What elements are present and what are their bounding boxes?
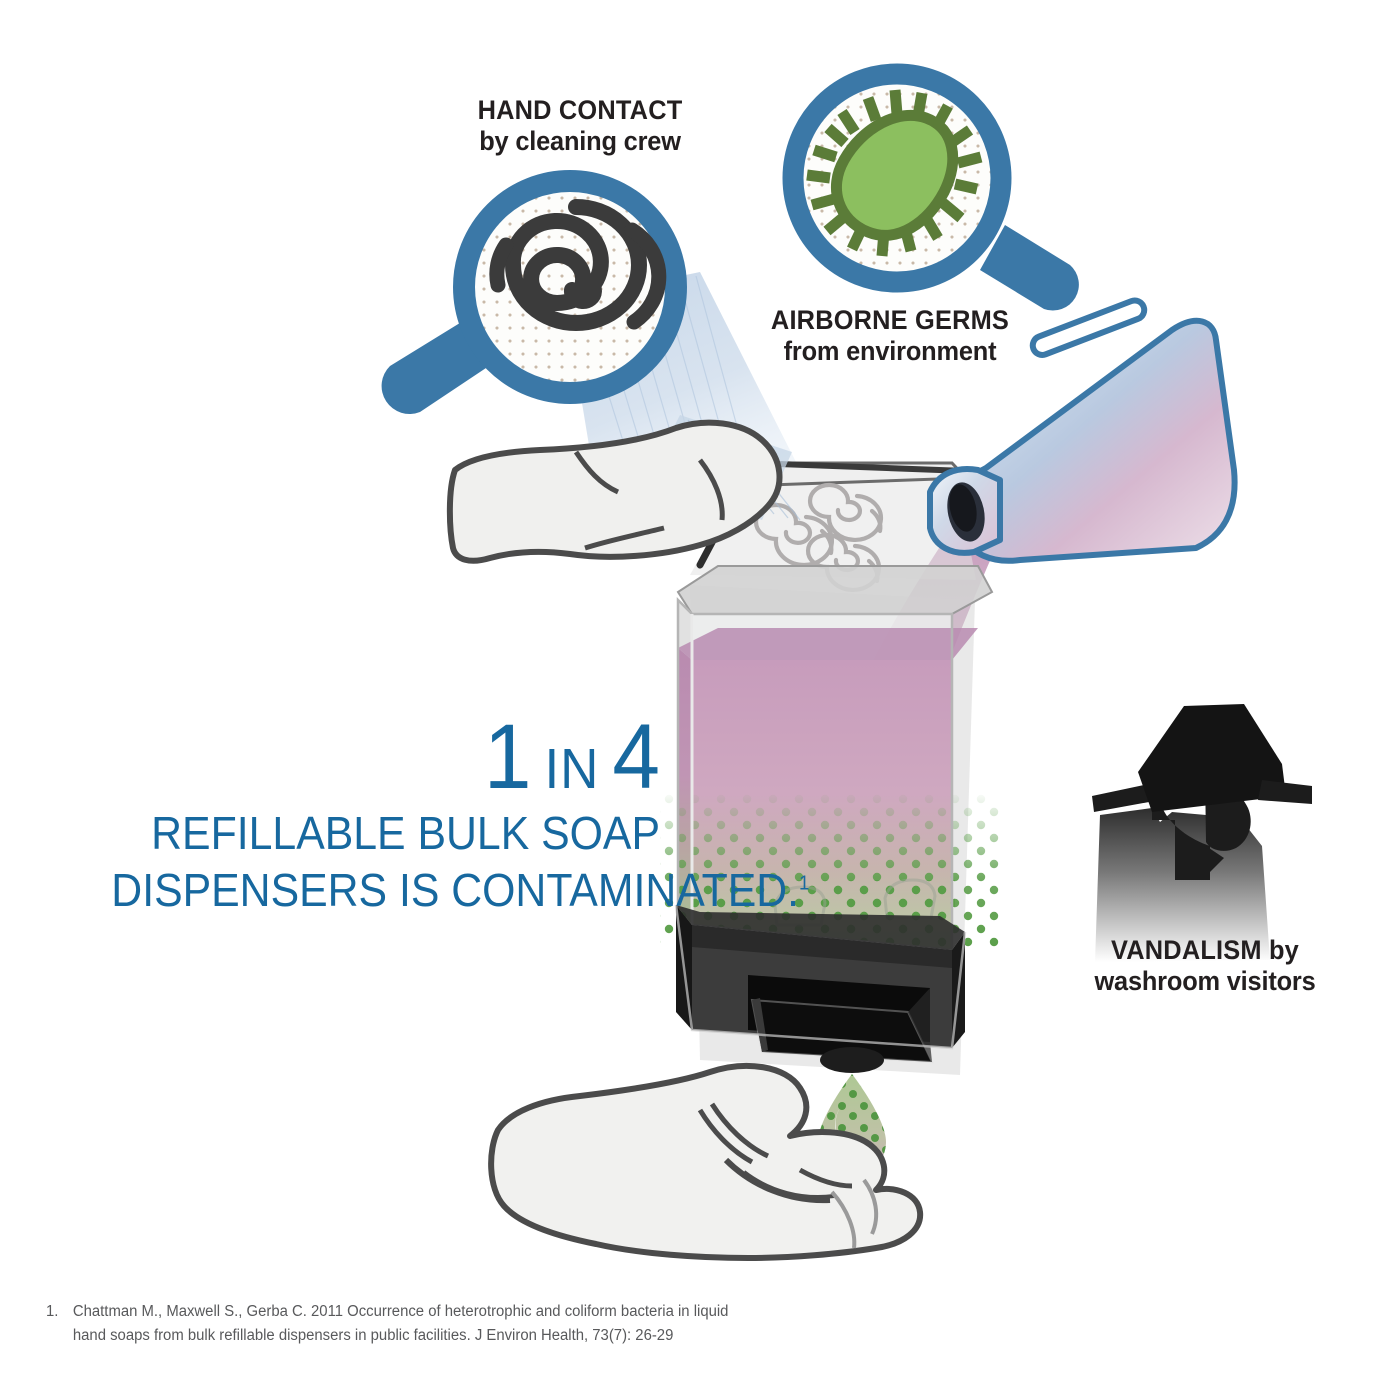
headline-number-one: 1 [484, 706, 532, 808]
bulk-soap-dispenser [660, 463, 1000, 1075]
headline-superscript: 1 [799, 872, 809, 894]
headline-line-b-wrap: DISPENSERS IS CONTAMINATED.1 [111, 866, 660, 915]
callout-label-vandalism: VANDALISM by washroom visitors [1069, 935, 1342, 998]
callout-line1: VANDALISM by [1069, 935, 1342, 966]
callout-line1: HAND CONTACT [463, 95, 698, 126]
headline-statistic: 1IN4 REFILLABLE BULK SOAP DISPENSERS IS … [70, 715, 660, 915]
callout-label-hand-contact: HAND CONTACT by cleaning crew [463, 95, 698, 158]
headline-connector: IN [545, 737, 600, 801]
headline-number-four: 4 [612, 706, 660, 808]
headline-line-a: REFILLABLE BULK SOAP [111, 809, 660, 858]
infographic-canvas: HAND CONTACT by cleaning crew AIRBORNE G… [0, 0, 1400, 1400]
callout-line2: from environment [768, 336, 1012, 367]
callout-line1: AIRBORNE GERMS [768, 305, 1012, 336]
footnote-text: Chattman M., Maxwell S., Gerba C. 2011 O… [73, 1300, 737, 1347]
magnifier-fingerprint-icon [382, 181, 676, 414]
callout-label-airborne-germs: AIRBORNE GERMS from environment [768, 305, 1012, 368]
illustration-artwork [0, 0, 1400, 1400]
footnote-citation: 1. Chattman M., Maxwell S., Gerba C. 201… [46, 1300, 737, 1347]
callout-line2: washroom visitors [1069, 966, 1342, 997]
magnifier-bacteria-icon [793, 74, 1079, 311]
footnote-marker: 1. [46, 1300, 71, 1324]
capped-person-silhouette-icon [1092, 704, 1312, 962]
headline-ratio: 1IN4 [111, 715, 660, 801]
headline-line-b: DISPENSERS IS CONTAMINATED. [111, 864, 799, 916]
callout-line2: by cleaning crew [463, 126, 698, 157]
